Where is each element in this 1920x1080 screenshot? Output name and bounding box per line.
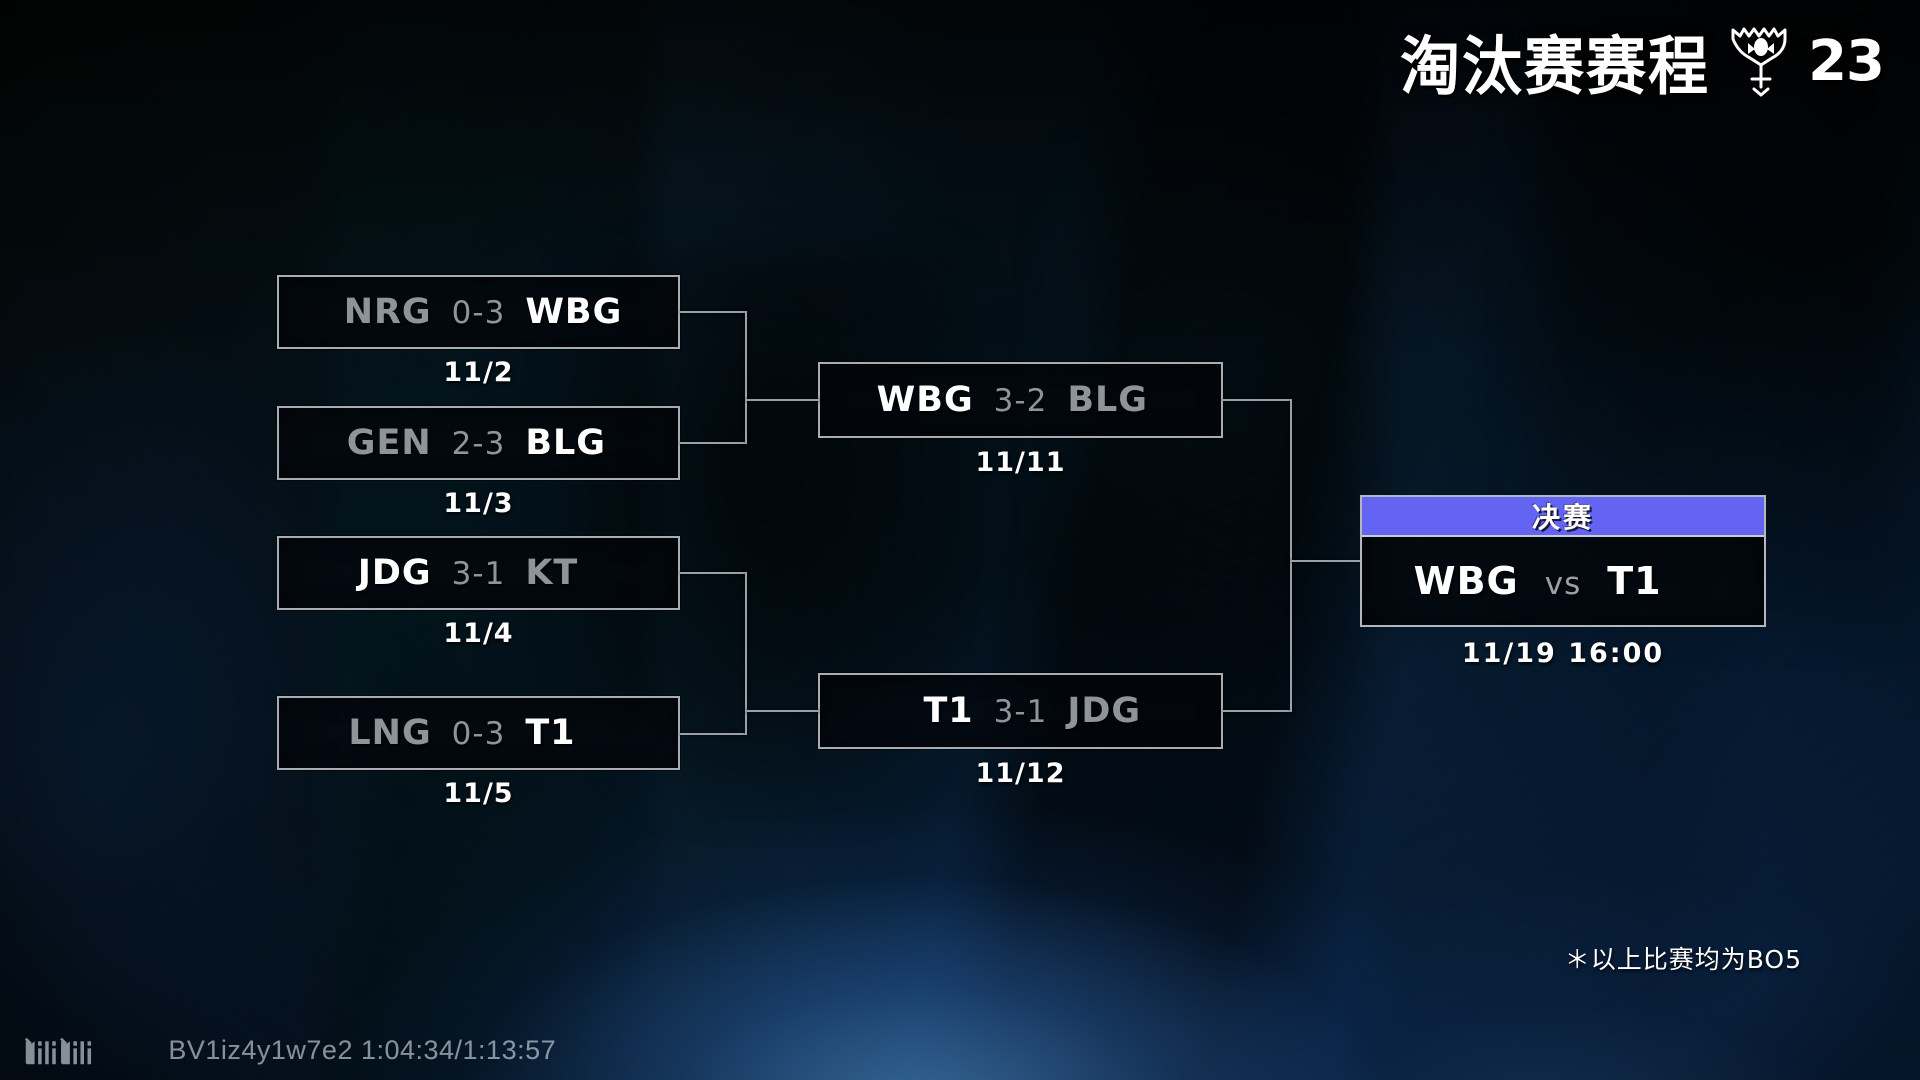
match-date-qf2: 11/3 xyxy=(277,488,680,519)
match-row-sf2: T1 3-1 JDG xyxy=(820,691,1221,731)
bilibili-logo-icon xyxy=(24,1036,156,1066)
match-row-qf1: NRG 0-3 WBG xyxy=(279,292,678,332)
match-box-qf4[interactable]: LNG 0-3 T1 xyxy=(277,696,680,770)
team-right-sf2: JDG xyxy=(1067,691,1179,731)
connector-qf4-stub xyxy=(680,733,747,735)
final-datetime: 11/19 16:00 xyxy=(1360,638,1766,669)
match-row-qf3: JDG 3-1 KT xyxy=(279,553,678,593)
bilibili-watermark: BV1iz4y1w7e2 1:04:34/1:13:57 xyxy=(24,1035,556,1066)
match-row-qf4: LNG 0-3 T1 xyxy=(279,713,678,753)
connector-qf2-stub xyxy=(680,442,747,444)
connector-qf1-stub xyxy=(680,311,747,313)
team-right-sf1: BLG xyxy=(1067,380,1179,420)
connector-to-final xyxy=(1290,560,1362,562)
match-box-qf1[interactable]: NRG 0-3 WBG xyxy=(277,275,680,349)
final-label: 决赛 xyxy=(1532,496,1594,536)
match-box-final[interactable]: 决赛 WBG vs T1 xyxy=(1360,495,1766,627)
match-date-sf2: 11/12 xyxy=(818,758,1223,789)
match-date-qf3: 11/4 xyxy=(277,618,680,649)
connector-sf1-stub xyxy=(1223,399,1292,401)
connector-to-sf2 xyxy=(745,710,820,712)
connector-sf1sf2-vertical xyxy=(1290,399,1292,712)
match-date-sf1: 11/11 xyxy=(818,447,1223,478)
final-header-banner: 决赛 xyxy=(1362,497,1764,537)
team-right-qf3: KT xyxy=(525,553,637,593)
final-vs-label: vs xyxy=(1545,566,1582,602)
match-box-qf2[interactable]: GEN 2-3 BLG xyxy=(277,406,680,480)
team-left-qf1: NRG xyxy=(320,292,432,332)
tournament-bracket: NRG 0-3 WBG 11/2 GEN 2-3 BLG 11/3 JDG 3-… xyxy=(0,0,1920,1080)
match-date-qf1: 11/2 xyxy=(277,357,680,388)
final-team-right: T1 xyxy=(1607,559,1727,603)
team-left-sf1: WBG xyxy=(862,380,974,420)
score-qf3: 3-1 xyxy=(452,556,506,592)
team-right-qf2: BLG xyxy=(525,423,637,463)
match-row-qf2: GEN 2-3 BLG xyxy=(279,423,678,463)
score-qf2: 2-3 xyxy=(452,426,506,462)
watermark-text: BV1iz4y1w7e2 1:04:34/1:13:57 xyxy=(168,1035,556,1066)
score-sf1: 3-2 xyxy=(994,383,1048,419)
final-team-left: WBG xyxy=(1399,559,1519,603)
team-left-qf2: GEN xyxy=(320,423,432,463)
final-matchup-row: WBG vs T1 xyxy=(1399,559,1728,603)
connector-qf3-stub xyxy=(680,572,747,574)
team-right-qf1: WBG xyxy=(525,292,637,332)
team-left-qf4: LNG xyxy=(320,713,432,753)
score-qf1: 0-3 xyxy=(452,295,506,331)
team-right-qf4: T1 xyxy=(525,713,637,753)
connector-qf1qf2-vertical xyxy=(745,311,747,444)
match-date-qf4: 11/5 xyxy=(277,778,680,809)
team-left-qf3: JDG xyxy=(320,553,432,593)
final-body: WBG vs T1 xyxy=(1362,537,1764,625)
connector-sf2-stub xyxy=(1223,710,1292,712)
score-qf4: 0-3 xyxy=(452,716,506,752)
match-box-qf3[interactable]: JDG 3-1 KT xyxy=(277,536,680,610)
connector-to-sf1 xyxy=(745,399,820,401)
score-sf2: 3-1 xyxy=(994,694,1048,730)
team-left-sf2: T1 xyxy=(862,691,974,731)
match-row-sf1: WBG 3-2 BLG xyxy=(820,380,1221,420)
match-box-sf1[interactable]: WBG 3-2 BLG xyxy=(818,362,1223,438)
match-box-sf2[interactable]: T1 3-1 JDG xyxy=(818,673,1223,749)
bo5-footnote: ＊以上比赛均为BO5 xyxy=(1565,940,1802,976)
